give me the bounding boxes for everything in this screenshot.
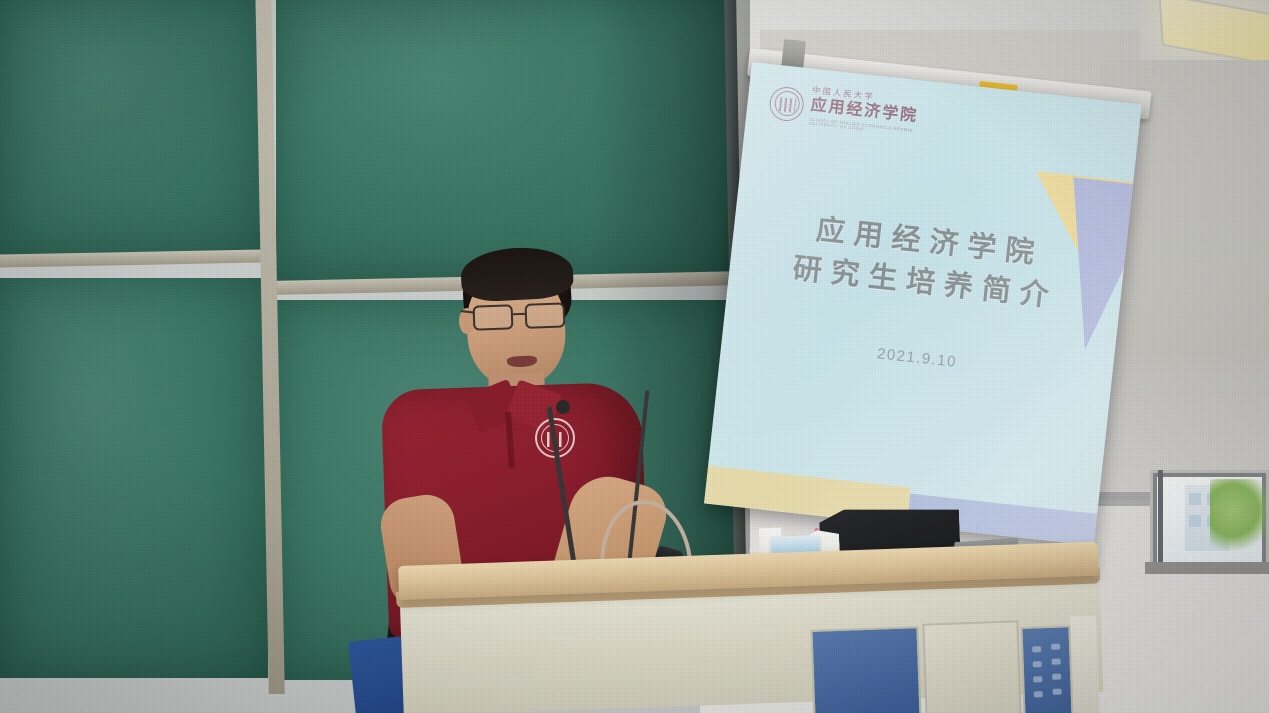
av-control-panel[interactable]: [1020, 625, 1073, 713]
blackboard-panel: [0, 0, 268, 258]
control-button[interactable]: [1053, 689, 1062, 695]
eyeglass-lens-right: [525, 302, 566, 328]
window-sill: [1145, 562, 1269, 574]
cabinet-panel: [922, 620, 1021, 713]
cabinet-edge: [1070, 616, 1099, 713]
control-button[interactable]: [1033, 661, 1042, 667]
control-button[interactable]: [1032, 646, 1041, 652]
projection-screen: 中国人民大学 应用经济学院 SCHOOL OF APPLIED ECONOMIC…: [704, 62, 1142, 546]
blackboard-panel: [0, 278, 268, 678]
hair-front: [460, 245, 575, 303]
slide-canvas: 中国人民大学 应用经济学院 SCHOOL OF APPLIED ECONOMIC…: [704, 62, 1142, 546]
eyeglasses-icon: [473, 302, 570, 331]
control-button[interactable]: [1033, 676, 1042, 682]
tree-outside: [1210, 479, 1266, 557]
control-button[interactable]: [1034, 691, 1043, 697]
blackboard-panel: [276, 0, 734, 282]
control-button[interactable]: [1052, 674, 1061, 680]
exterior-window: [1150, 470, 1269, 570]
eyeglass-lens-left: [473, 304, 514, 330]
control-button[interactable]: [1051, 644, 1060, 650]
photo-scene: 中国人民大学 应用经济学院 SCHOOL OF APPLIED ECONOMIC…: [0, 0, 1269, 713]
screen-glare: [704, 62, 1142, 546]
eyeglass-bridge: [513, 313, 525, 316]
window-mullion: [1158, 470, 1163, 570]
window-glass: [1157, 477, 1262, 563]
microphone-head-icon: [556, 400, 570, 414]
cabinet-door-blue[interactable]: [810, 626, 921, 713]
control-button[interactable]: [1052, 659, 1061, 665]
